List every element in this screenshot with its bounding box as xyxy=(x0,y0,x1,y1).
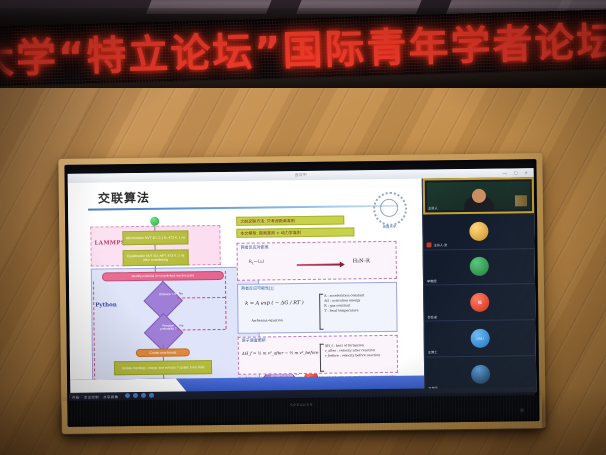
reaction-product: H₂N–R xyxy=(353,258,370,264)
flow-node-update: Update topology, charge and velocity / U… xyxy=(114,360,212,375)
participant-name-4: 王博士 xyxy=(428,350,438,355)
taskbar-icons[interactable] xyxy=(125,393,154,398)
camera-icon[interactable] xyxy=(133,393,138,398)
taskbar-text[interactable]: 开始 · 会议控制 · 共享屏幕 xyxy=(72,394,118,400)
avatar-blue: HNU xyxy=(471,329,490,348)
arrhenius-equation: k = A exp ( − ΔG / RT ) xyxy=(245,300,304,307)
video-tile-2[interactable]: 李教授 xyxy=(424,249,535,286)
mic-icon[interactable] xyxy=(125,393,130,398)
participant-camera-feed xyxy=(427,181,530,210)
arrhenius-equation-name: Arrhenius equation xyxy=(251,318,282,322)
window-label: 会议中 xyxy=(295,172,307,178)
conference-room-photo: 大学“特立论坛”国际青年学者论坛宇 会议中 — □ × 交联算法 湖南大学 LA… xyxy=(0,0,606,455)
presentation-slide: 交联算法 湖南大学 LAMMPS Python Minimization NVT… xyxy=(68,179,426,398)
mic-muted-icon xyxy=(427,243,432,248)
soundbar: SPEAKER xyxy=(62,395,542,435)
slide-title: 交联算法 xyxy=(98,189,150,207)
university-seal-icon xyxy=(373,192,407,226)
share-icon[interactable] xyxy=(141,393,146,398)
video-tile-4[interactable]: HNU 王博士 xyxy=(424,320,535,357)
display-screen[interactable]: 会议中 — □ × 交联算法 湖南大学 LAMMPS Python Minimi… xyxy=(68,168,537,398)
avatar-gold xyxy=(469,221,488,240)
soundbar-brand: SPEAKER xyxy=(290,403,313,407)
panel-probability-heading: 两者反应可能性[1] xyxy=(241,285,274,291)
panel-reaction-heading: 两者反应对距离 xyxy=(241,244,269,250)
avatar-blue-photo xyxy=(471,365,490,384)
participant-name-2: 李教授 xyxy=(427,278,437,283)
window-controls[interactable]: — □ × xyxy=(502,170,531,176)
reactant-structure: R1—⟨△⟩ xyxy=(249,258,264,265)
var-v-before: v_before : velocity before reaction xyxy=(325,353,380,359)
tag-previous-method: 之前交联方法: 只考虑距离准则 xyxy=(236,215,344,225)
participants-icon[interactable] xyxy=(149,393,154,398)
avatar-red: 福 xyxy=(470,293,489,312)
python-label: Python xyxy=(95,302,117,308)
video-participants-panel[interactable]: 主讲人 主持人-张 李教授 福 参会者 HNU 王博士 赵老师 xyxy=(422,177,537,393)
tag-this-model: 本文模型: 距离准则 + 动力学准则 xyxy=(236,227,354,237)
soundbar-indicator-icon xyxy=(520,408,524,412)
branch-label-no-2: No xyxy=(179,323,183,327)
participant-name-0: 主讲人 xyxy=(428,206,438,211)
video-tile-3[interactable]: 福 参会者 xyxy=(424,285,535,322)
flow-node-equil2: Equilibration NVT 4D, NPT, 473 K, 1 ns A… xyxy=(123,249,189,266)
avatar-green xyxy=(470,257,489,276)
university-name: 湖南大学 xyxy=(370,224,408,229)
var-T: T : local temperature xyxy=(324,308,364,313)
participant-name-1: 主持人-张 xyxy=(434,242,448,247)
flow-start-node xyxy=(150,217,159,226)
participant-name-3: 参会者 xyxy=(427,314,437,319)
video-tile-active-speaker[interactable]: 主讲人 xyxy=(423,177,534,214)
flow-node-equil1: Minimization NVT 4D, 0.1 fs, 473 K, 1 ns xyxy=(122,230,188,245)
video-tile-1[interactable]: 主持人-张 xyxy=(423,213,534,250)
branch-label-no-1: No xyxy=(179,291,183,295)
velocity-equation: ΔH_f = ½ m v²_after − ½ m v²_before xyxy=(242,350,319,356)
panel-velocity-heading: 原子速度更新 xyxy=(242,337,266,343)
lammps-label: LAMMPS xyxy=(94,240,125,246)
